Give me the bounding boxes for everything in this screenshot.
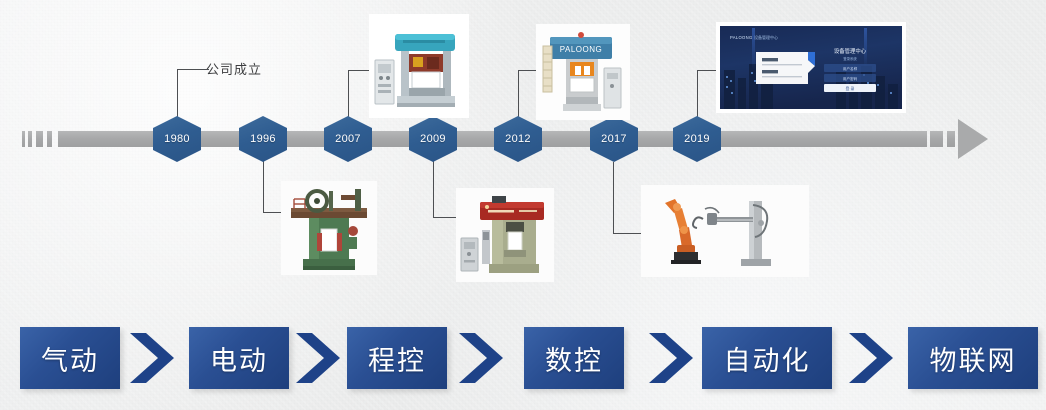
timeline-dash-segment <box>47 131 52 147</box>
press-machine-2007-art <box>369 14 469 118</box>
process-evolution-row: 气动 电动 程控 数控 自动化 物联网 <box>0 327 1046 395</box>
process-step-chengkong[interactable]: 程控 <box>347 327 447 389</box>
timeline-node-2012[interactable]: 2012 <box>494 116 542 162</box>
node-year-label: 2012 <box>505 133 531 145</box>
process-chevron-icon <box>455 329 513 387</box>
svg-text:用户名称: 用户名称 <box>843 66 858 71</box>
node-year-label: 1980 <box>164 133 190 145</box>
process-step-label: 物联网 <box>930 339 1017 378</box>
timeline-dash-segment <box>947 131 955 147</box>
press-machine-2012-art: PALOONG <box>536 24 630 120</box>
timeline-node-2017[interactable]: 2017 <box>590 116 638 162</box>
node-year-label: 2007 <box>335 133 361 145</box>
process-step-label: 程控 <box>368 339 426 378</box>
friction-press-1996-art <box>281 181 377 275</box>
timeline-node-2019[interactable]: 2019 <box>673 116 721 162</box>
milestone-caption-1980: 公司成立 <box>206 59 262 78</box>
timeline-stage: 公司成立 1980 1996 2007 2009 2012 2017 2019 <box>0 0 1046 410</box>
svg-text:PALOONG: PALOONG <box>560 45 602 54</box>
svg-text:登 录: 登 录 <box>846 86 855 91</box>
svg-text:登录系统: 登录系统 <box>843 56 857 61</box>
connector-1980 <box>177 69 209 119</box>
timeline-dash-segment <box>36 131 43 147</box>
svg-text:设备管理中心: 设备管理中心 <box>834 47 867 55</box>
connector-2019 <box>697 70 717 118</box>
process-step-shukong[interactable]: 数控 <box>524 327 624 389</box>
svg-text:用户密码: 用户密码 <box>843 76 858 81</box>
timeline-dash-segment <box>930 131 943 147</box>
process-step-diandong[interactable]: 电动 <box>189 327 289 389</box>
process-chevron-icon <box>126 329 184 387</box>
timeline-dash-segment <box>22 131 25 147</box>
milestone-photo-1996[interactable] <box>281 181 377 275</box>
timeline-arrow-icon <box>958 119 988 159</box>
process-chevron-icon <box>645 329 703 387</box>
process-step-qidong[interactable]: 气动 <box>20 327 120 389</box>
connector-2009 <box>433 160 458 218</box>
svg-text:PALOONG: PALOONG <box>730 35 753 40</box>
process-step-label: 自动化 <box>724 339 811 378</box>
process-chevron-icon <box>292 329 350 387</box>
timeline-node-2009[interactable]: 2009 <box>409 116 457 162</box>
timeline-node-1980[interactable]: 1980 <box>153 116 201 162</box>
milestone-photo-2017[interactable] <box>641 185 809 277</box>
timeline-node-1996[interactable]: 1996 <box>239 116 287 162</box>
cloud-platform-login-art: PALOONG 设备管理中心 设备管理中心 登录系统 用户名称 用户密码 登 录 <box>716 22 906 113</box>
timeline-node-2007[interactable]: 2007 <box>324 116 372 162</box>
milestone-photo-2007[interactable] <box>369 14 469 118</box>
milestone-photo-2009[interactable] <box>456 188 554 282</box>
node-year-label: 2017 <box>601 133 627 145</box>
cnc-press-2009-art <box>456 188 554 282</box>
milestone-photo-2012[interactable]: PALOONG <box>536 24 630 120</box>
connector-2017 <box>613 162 641 234</box>
process-step-label: 电动 <box>210 339 268 378</box>
node-year-label: 2009 <box>420 133 446 145</box>
process-step-label: 气动 <box>41 339 99 378</box>
process-chevron-icon <box>845 329 903 387</box>
milestone-photo-2019[interactable]: PALOONG 设备管理中心 设备管理中心 登录系统 用户名称 用户密码 登 录 <box>716 22 906 113</box>
timeline-dash-segment <box>28 131 32 147</box>
process-step-label: 数控 <box>545 339 603 378</box>
robot-arm-2017-art <box>641 185 809 277</box>
process-step-wulianwang[interactable]: 物联网 <box>908 327 1038 389</box>
node-year-label: 1996 <box>250 133 276 145</box>
node-year-label: 2019 <box>684 133 710 145</box>
process-step-zidonghua[interactable]: 自动化 <box>702 327 832 389</box>
svg-text:设备管理中心: 设备管理中心 <box>754 34 778 40</box>
